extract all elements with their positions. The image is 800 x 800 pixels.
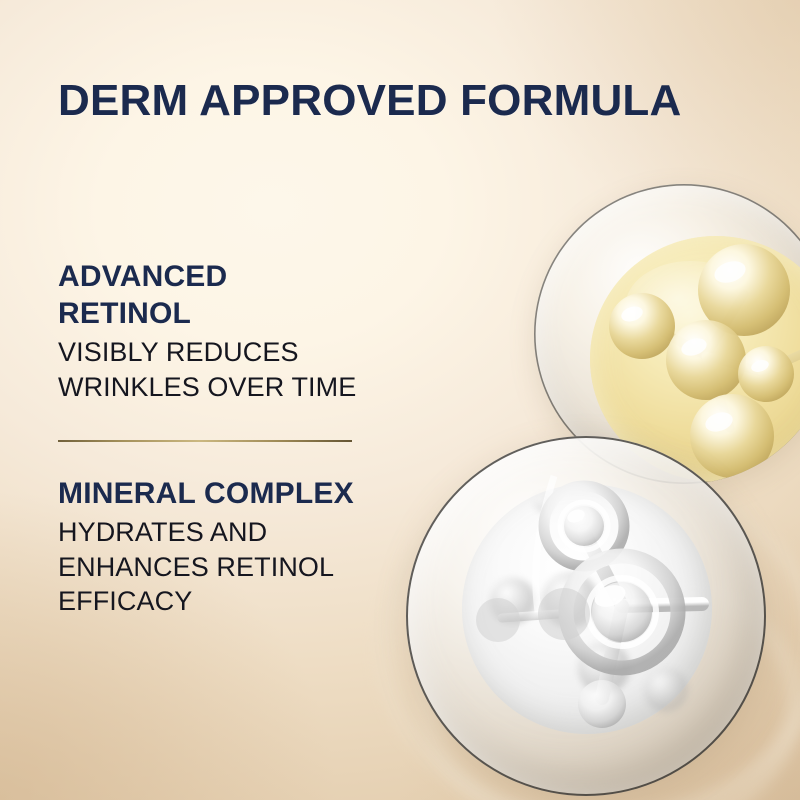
- feature-mineral-complex: MINERAL COMPLEX HYDRATES AND ENHANCES RE…: [58, 475, 354, 619]
- feature-body: VISIBLY REDUCES WRINKLES OVER TIME: [58, 335, 356, 404]
- feature-advanced-retinol: ADVANCED RETINOL VISIBLY REDUCES WRINKLE…: [58, 258, 356, 404]
- feature-title: MINERAL COMPLEX: [58, 475, 354, 512]
- feature-title: ADVANCED RETINOL: [58, 258, 356, 332]
- section-divider: [58, 440, 352, 442]
- copy-block: DERM APPROVED FORMULA ADVANCED RETINOL V…: [0, 0, 800, 800]
- promo-canvas: DERM APPROVED FORMULA ADVANCED RETINOL V…: [0, 0, 800, 800]
- feature-body: HYDRATES AND ENHANCES RETINOL EFFICACY: [58, 515, 354, 619]
- page-title: DERM APPROVED FORMULA: [58, 79, 681, 124]
